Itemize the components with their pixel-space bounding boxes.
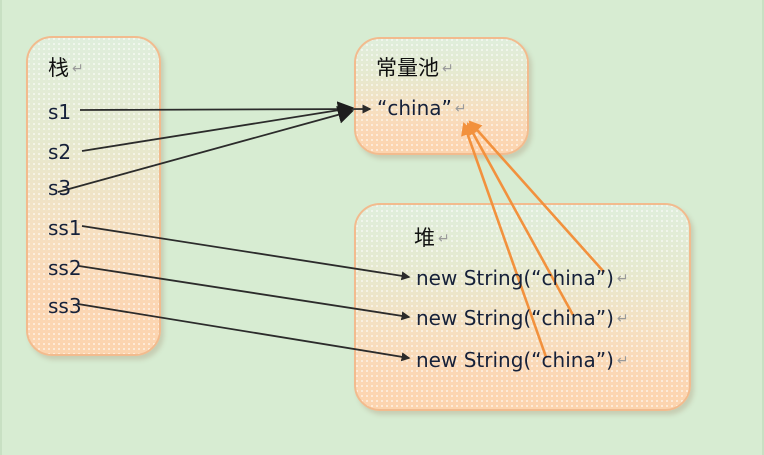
pilcrow-icon: ↵ (617, 311, 629, 327)
pilcrow-icon: ↵ (617, 353, 629, 369)
stack-item-s2: s2 (48, 142, 71, 162)
pilcrow-icon: ↵ (617, 271, 629, 287)
constant-pool-title: 常量池↵ (376, 58, 454, 79)
pilcrow-icon: ↵ (442, 61, 454, 77)
heap-item-1: new String(“china”)↵ (416, 268, 629, 288)
heap-title: 堆↵ (414, 228, 450, 249)
stack-item-s3: s3 (48, 178, 71, 198)
diagram-canvas: 栈↵ s1 s2 s3 ss1 ss2 ss3 常量池↵ “china”↵ 堆↵… (0, 0, 764, 455)
pilcrow-icon: ↵ (438, 231, 450, 247)
stack-item-ss2: ss2 (48, 258, 82, 278)
heap-item-2: new String(“china”)↵ (416, 308, 629, 328)
heap-item-3: new String(“china”)↵ (416, 350, 629, 370)
pilcrow-icon: ↵ (72, 61, 84, 77)
stack-item-s1: s1 (48, 102, 71, 122)
stack-box (26, 36, 161, 356)
constant-pool-item-china: “china”↵ (377, 98, 467, 118)
stack-item-ss1: ss1 (48, 218, 82, 238)
stack-item-ss3: ss3 (48, 296, 82, 316)
pilcrow-icon: ↵ (455, 101, 467, 117)
stack-title: 栈↵ (48, 58, 84, 79)
